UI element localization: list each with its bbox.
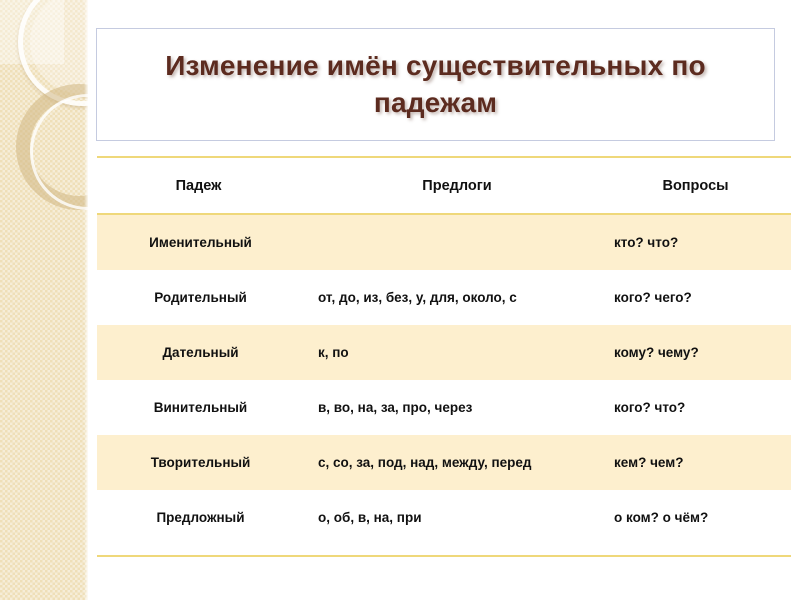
cell-prepositions: с, со, за, под, над, между, перед	[304, 455, 610, 470]
table-row: Творительный с, со, за, под, над, между,…	[97, 435, 791, 490]
cell-questions: кого? что?	[610, 400, 791, 415]
column-header-case: Падеж	[97, 178, 304, 194]
cell-questions: о ком? о чём?	[610, 510, 791, 525]
cell-case: Творительный	[97, 455, 304, 470]
column-header-prepositions: Предлоги	[304, 178, 610, 194]
cell-case: Родительный	[97, 290, 304, 305]
table-row: Предложный о, об, в, на, при о ком? о чё…	[97, 490, 791, 545]
cell-questions: кому? чему?	[610, 345, 791, 360]
table-header-row: Падеж Предлоги Вопросы	[97, 158, 791, 213]
slide-canvas: Изменение имён существительных по падежа…	[0, 0, 800, 600]
column-header-questions: Вопросы	[610, 178, 791, 194]
page-title: Изменение имён существительных по падежа…	[116, 48, 756, 121]
cell-case: Дательный	[97, 345, 304, 360]
cell-case: Предложный	[97, 510, 304, 525]
table-row: Родительный от, до, из, без, у, для, око…	[97, 270, 791, 325]
table-bottom-rule	[97, 555, 791, 557]
cell-case: Именительный	[97, 235, 304, 250]
table-row: Дательный к, по кому? чему?	[97, 325, 791, 380]
cell-prepositions: от, до, из, без, у, для, около, с	[304, 290, 610, 305]
sidebar-edge-highlight	[84, 0, 88, 600]
cell-prepositions: в, во, на, за, про, через	[304, 400, 610, 415]
table-row: Винительный в, во, на, за, про, через ко…	[97, 380, 791, 435]
cell-questions: кто? что?	[610, 235, 791, 250]
cell-prepositions: к, по	[304, 345, 610, 360]
cell-questions: кого? чего?	[610, 290, 791, 305]
cases-table: Падеж Предлоги Вопросы Именительный кто?…	[97, 156, 791, 545]
title-box: Изменение имён существительных по падежа…	[96, 28, 775, 141]
decorative-sidebar	[0, 0, 88, 600]
cell-questions: кем? чем?	[610, 455, 791, 470]
cell-case: Винительный	[97, 400, 304, 415]
cell-prepositions: о, об, в, на, при	[304, 510, 610, 525]
table-row: Именительный кто? что?	[97, 215, 791, 270]
